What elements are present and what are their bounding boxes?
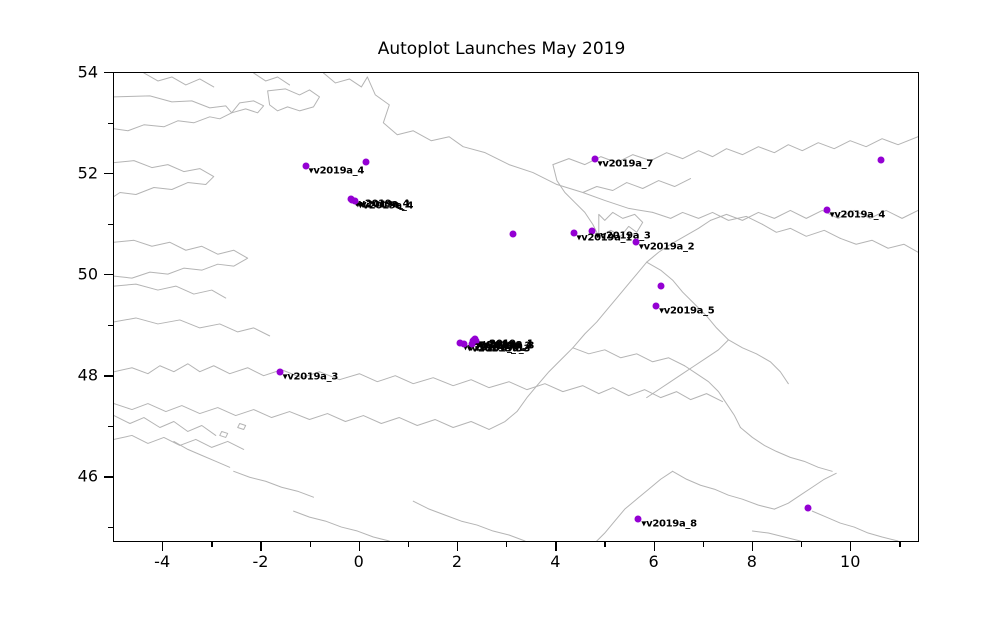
- data-point-label: ▾v2019a_5: [659, 306, 714, 317]
- x-axis-tick: [359, 542, 360, 551]
- x-tick-label: 8: [747, 552, 757, 571]
- data-point-label: ▾v2019a_3: [475, 344, 530, 355]
- x-axis-tick: [310, 542, 311, 547]
- y-tick-label: 46: [78, 467, 98, 486]
- x-axis-tick: [506, 542, 507, 547]
- x-tick-label: 6: [649, 552, 659, 571]
- data-point-marker: [657, 283, 664, 290]
- x-axis-tick: [604, 542, 605, 547]
- plot-area: ▾v2019a_4▾v2019a_4▾v2019a_1▾v2019a_4▾v20…: [113, 72, 919, 542]
- x-tick-label: -4: [154, 552, 170, 571]
- data-point-label: ▾v2019a_7: [598, 158, 653, 169]
- x-axis-tick: [457, 542, 458, 551]
- y-axis-tick: [108, 325, 113, 326]
- data-points-layer: ▾v2019a_4▾v2019a_4▾v2019a_1▾v2019a_4▾v20…: [114, 73, 918, 541]
- x-axis-tick: [555, 542, 556, 551]
- x-tick-label: 4: [550, 552, 560, 571]
- x-axis-tick: [162, 542, 163, 551]
- x-axis-tick: [260, 542, 261, 551]
- y-axis-tick: [104, 274, 113, 275]
- data-point-label: ▾v2019a_4: [830, 210, 885, 221]
- page-title: Autoplot Launches May 2019: [0, 39, 1003, 59]
- y-tick-label: 48: [78, 366, 98, 385]
- y-tick-label: 52: [78, 164, 98, 183]
- data-point-label: ▾v2019a_8: [641, 518, 696, 529]
- x-axis-tick: [850, 542, 851, 551]
- y-axis-tick: [108, 224, 113, 225]
- y-axis-tick: [108, 527, 113, 528]
- data-point-label: ▾v2019a_4: [358, 200, 413, 211]
- figure-canvas: Autoplot Launches May 2019: [0, 0, 1003, 633]
- y-axis-tick: [104, 72, 113, 73]
- y-axis-tick: [108, 123, 113, 124]
- x-axis-tick: [703, 542, 704, 547]
- x-tick-label: 10: [840, 552, 860, 571]
- data-point-marker: [804, 504, 811, 511]
- data-point-label: ▾v2019a_2: [639, 241, 694, 252]
- x-axis-tick: [752, 542, 753, 551]
- data-point-label: ▾v2019a_4: [309, 166, 364, 177]
- y-axis-tick: [104, 476, 113, 477]
- x-axis-tick: [899, 542, 900, 547]
- data-point-marker: [510, 230, 517, 237]
- x-axis-tick: [654, 542, 655, 551]
- data-point-label: ▾v2019a_3: [283, 372, 338, 383]
- y-tick-label: 54: [78, 63, 98, 82]
- x-tick-label: -2: [252, 552, 268, 571]
- y-axis-tick: [104, 375, 113, 376]
- y-axis-tick: [104, 173, 113, 174]
- data-point-marker: [362, 159, 369, 166]
- y-axis-tick: [108, 426, 113, 427]
- x-axis-tick: [801, 542, 802, 547]
- y-tick-label: 50: [78, 265, 98, 284]
- x-tick-label: 0: [354, 552, 364, 571]
- data-point-marker: [877, 156, 884, 163]
- x-axis-tick: [211, 542, 212, 547]
- x-axis-tick: [408, 542, 409, 547]
- x-tick-label: 2: [452, 552, 462, 571]
- data-point-label: ▾v2019a_1: [577, 232, 632, 243]
